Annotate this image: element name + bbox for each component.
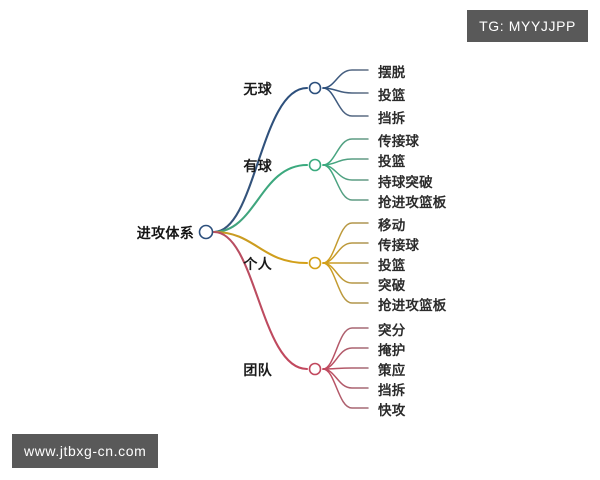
branch-label[interactable]: 有球 bbox=[243, 156, 272, 176]
branch-label[interactable]: 个人 bbox=[243, 254, 272, 274]
root-label[interactable]: 进攻体系 bbox=[137, 223, 194, 243]
root-node[interactable] bbox=[200, 226, 213, 239]
mindmap-connectors bbox=[0, 0, 600, 480]
leaf-label[interactable]: 传接球 bbox=[378, 234, 419, 254]
branch-label[interactable]: 无球 bbox=[243, 79, 272, 99]
leaf-edge-2-3 bbox=[323, 263, 368, 283]
leaf-edge-3-3 bbox=[323, 369, 368, 388]
leaf-label[interactable]: 投篮 bbox=[378, 84, 405, 104]
leaf-label[interactable]: 投篮 bbox=[378, 254, 405, 274]
watermark-bottom-left: www.jtbxg-cn.com bbox=[12, 434, 158, 468]
branch-label[interactable]: 团队 bbox=[243, 360, 272, 380]
leaf-label[interactable]: 掩护 bbox=[378, 339, 405, 359]
leaf-edge-1-2 bbox=[323, 165, 368, 180]
branch-node-3[interactable] bbox=[310, 364, 321, 375]
branch-node-2[interactable] bbox=[310, 258, 321, 269]
leaf-label[interactable]: 传接球 bbox=[378, 130, 419, 150]
leaf-label[interactable]: 挡拆 bbox=[378, 379, 405, 399]
leaf-label[interactable]: 突破 bbox=[378, 274, 405, 294]
leaf-edge-0-0 bbox=[323, 70, 368, 88]
leaf-label[interactable]: 突分 bbox=[378, 319, 405, 339]
branch-node-1[interactable] bbox=[310, 160, 321, 171]
leaf-label[interactable]: 挡拆 bbox=[378, 107, 405, 127]
watermark-top-right: TG: MYYJJPP bbox=[467, 10, 588, 42]
leaf-edge-1-0 bbox=[323, 139, 368, 165]
leaf-edge-3-2 bbox=[323, 368, 368, 369]
leaf-label[interactable]: 移动 bbox=[378, 214, 405, 234]
mindmap-canvas: 摆脱投篮挡拆无球传接球投篮持球突破抢进攻篮板有球移动传接球投篮突破抢进攻篮板个人… bbox=[0, 0, 600, 480]
leaf-label[interactable]: 快攻 bbox=[378, 399, 405, 419]
leaf-label[interactable]: 抢进攻篮板 bbox=[378, 294, 447, 314]
leaf-label[interactable]: 持球突破 bbox=[378, 171, 433, 191]
leaf-edge-2-1 bbox=[323, 243, 368, 263]
leaf-label[interactable]: 抢进攻篮板 bbox=[378, 191, 447, 211]
leaf-edge-3-1 bbox=[323, 348, 368, 369]
leaf-edge-1-3 bbox=[323, 165, 368, 200]
leaf-label[interactable]: 摆脱 bbox=[378, 61, 405, 81]
leaf-label[interactable]: 投篮 bbox=[378, 150, 405, 170]
leaf-label[interactable]: 策应 bbox=[378, 359, 405, 379]
branch-edge-3 bbox=[214, 232, 307, 369]
branch-node-0[interactable] bbox=[310, 83, 321, 94]
